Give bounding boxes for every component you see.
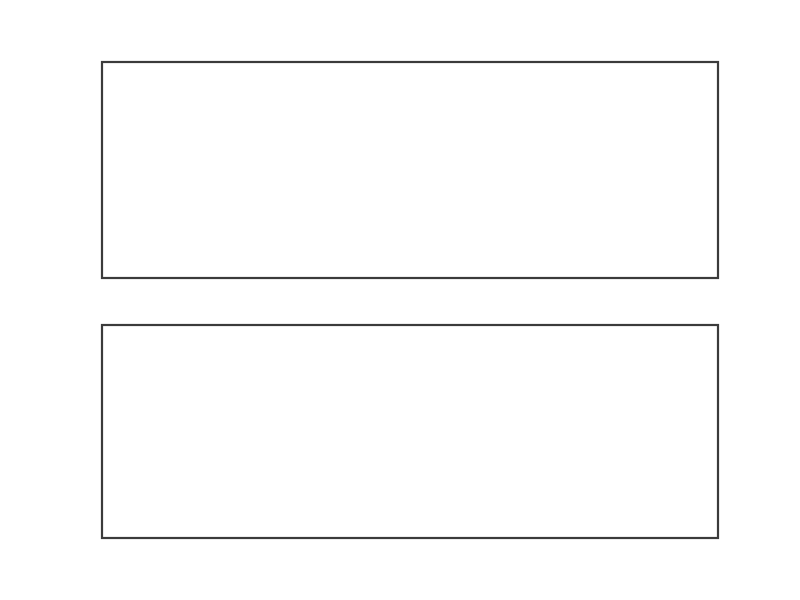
figure-background bbox=[0, 0, 800, 600]
matplotlib-figure bbox=[0, 0, 800, 600]
figure-canvas bbox=[0, 0, 800, 600]
